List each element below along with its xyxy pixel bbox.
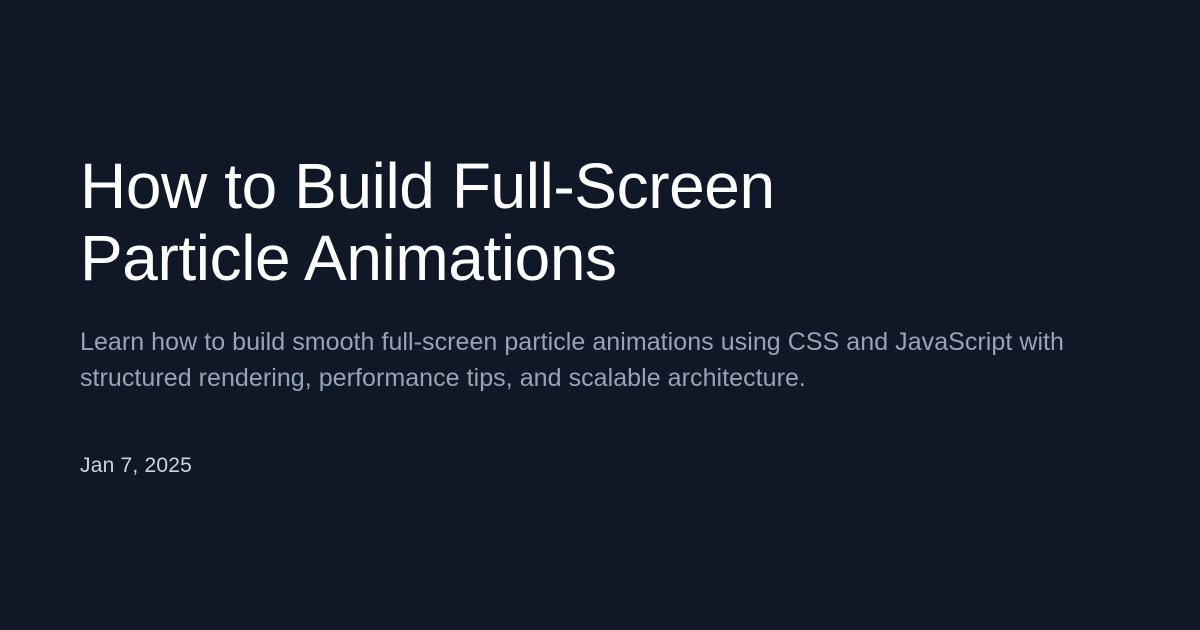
page-title: How to Build Full-Screen Particle Animat… — [80, 150, 980, 294]
page-subtitle: Learn how to build smooth full-screen pa… — [80, 324, 1125, 396]
og-share-card: How to Build Full-Screen Particle Animat… — [0, 0, 1200, 630]
card-content: How to Build Full-Screen Particle Animat… — [80, 150, 1125, 480]
publish-date: Jan 7, 2025 — [80, 452, 1125, 480]
